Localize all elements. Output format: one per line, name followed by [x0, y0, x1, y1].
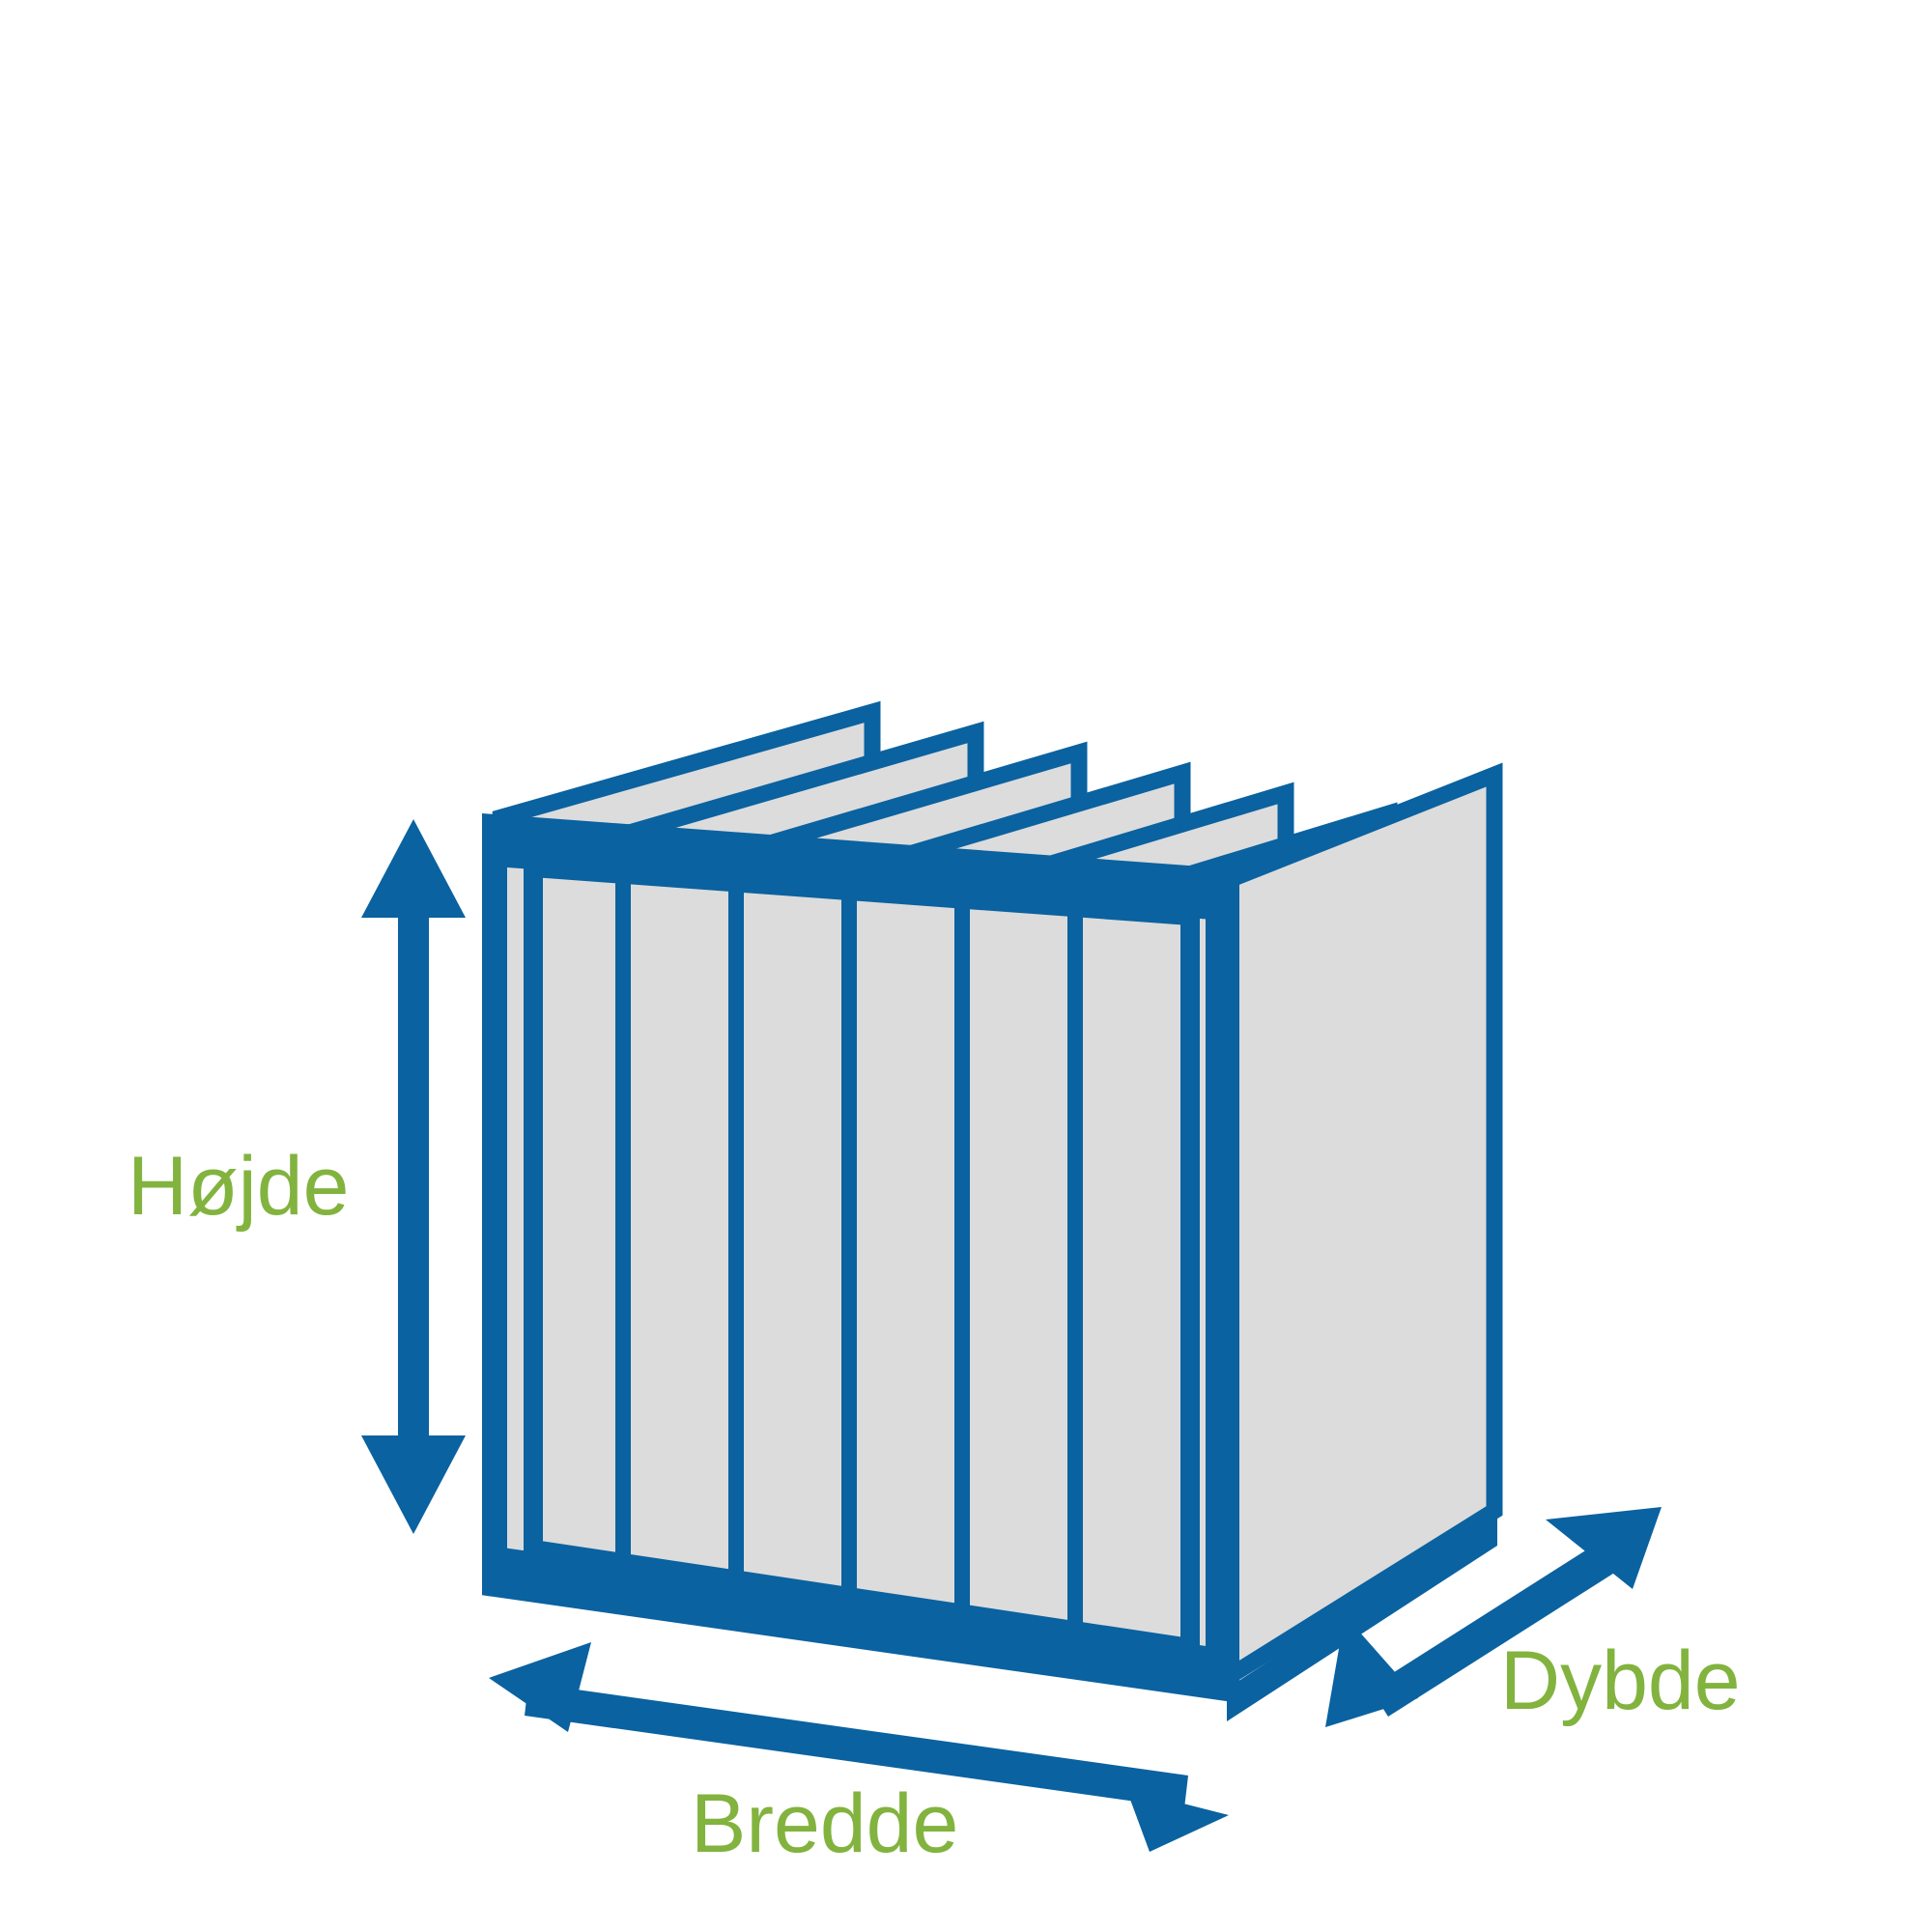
dimension-label-height: Højde [128, 1145, 349, 1228]
filter-front-frame-inner [533, 867, 1190, 1648]
filter-right-corner-post [1206, 912, 1235, 1689]
poster-root: Posefilter Ved opmåling af Posefiltre sk… [0, 0, 1932, 1932]
dimension-label-depth: Dybde [1500, 1639, 1741, 1722]
filter-front-frame [495, 827, 1227, 1689]
dimension-label-width: Bredde [691, 1782, 958, 1865]
